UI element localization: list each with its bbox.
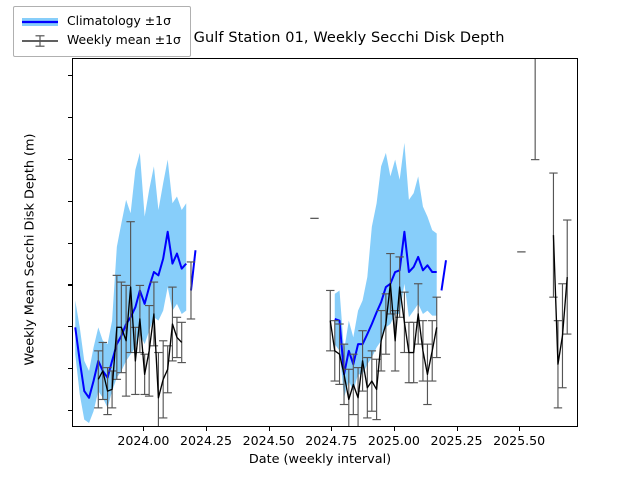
x-tick-label: 2024.25	[180, 433, 232, 448]
y-tick-mark	[68, 284, 72, 285]
legend: Climatology ±1σ Weekly mean ±1σ	[13, 6, 191, 57]
y-tick-mark	[68, 243, 72, 244]
weekly-mean-line-6	[553, 235, 567, 364]
climatology-band-2	[335, 143, 437, 398]
weekly-mean-swatch-icon	[22, 34, 58, 48]
y-tick-mark	[68, 75, 72, 76]
y-axis-label: Weekly Mean Secchi Disk Depth (m)	[23, 60, 38, 440]
climatology-line-3	[441, 260, 446, 290]
y-tick-mark	[68, 117, 72, 118]
legend-item-weekly-mean: Weekly mean ±1σ	[22, 31, 181, 50]
plot-svg	[73, 59, 578, 427]
x-tick-mark	[143, 427, 144, 431]
x-tick-label: 2025.00	[368, 433, 420, 448]
legend-item-climatology: Climatology ±1σ	[22, 12, 181, 31]
x-tick-mark	[394, 427, 395, 431]
x-tick-label: 2024.00	[117, 433, 169, 448]
x-tick-label: 2025.50	[493, 433, 545, 448]
y-tick-mark	[68, 368, 72, 369]
x-tick-mark	[519, 427, 520, 431]
y-tick-mark	[68, 159, 72, 160]
figure: Persian Gulf Station 01, Weekly Secchi D…	[0, 0, 640, 480]
x-tick-mark	[457, 427, 458, 431]
x-tick-label: 2024.50	[243, 433, 295, 448]
x-tick-label: 2024.75	[305, 433, 357, 448]
x-tick-mark	[206, 427, 207, 431]
y-tick-mark	[68, 201, 72, 202]
x-tick-label: 2025.25	[430, 433, 482, 448]
y-tick-mark	[68, 326, 72, 327]
climatology-line-1	[191, 250, 196, 290]
plot-area	[72, 58, 578, 427]
y-tick-mark	[68, 410, 72, 411]
legend-label-climatology: Climatology ±1σ	[67, 15, 171, 27]
climatology-swatch-icon	[22, 15, 58, 29]
x-axis-label: Date (weekly interval)	[0, 452, 640, 467]
legend-label-weekly-mean: Weekly mean ±1σ	[67, 34, 181, 46]
x-tick-mark	[331, 427, 332, 431]
x-tick-mark	[269, 427, 270, 431]
